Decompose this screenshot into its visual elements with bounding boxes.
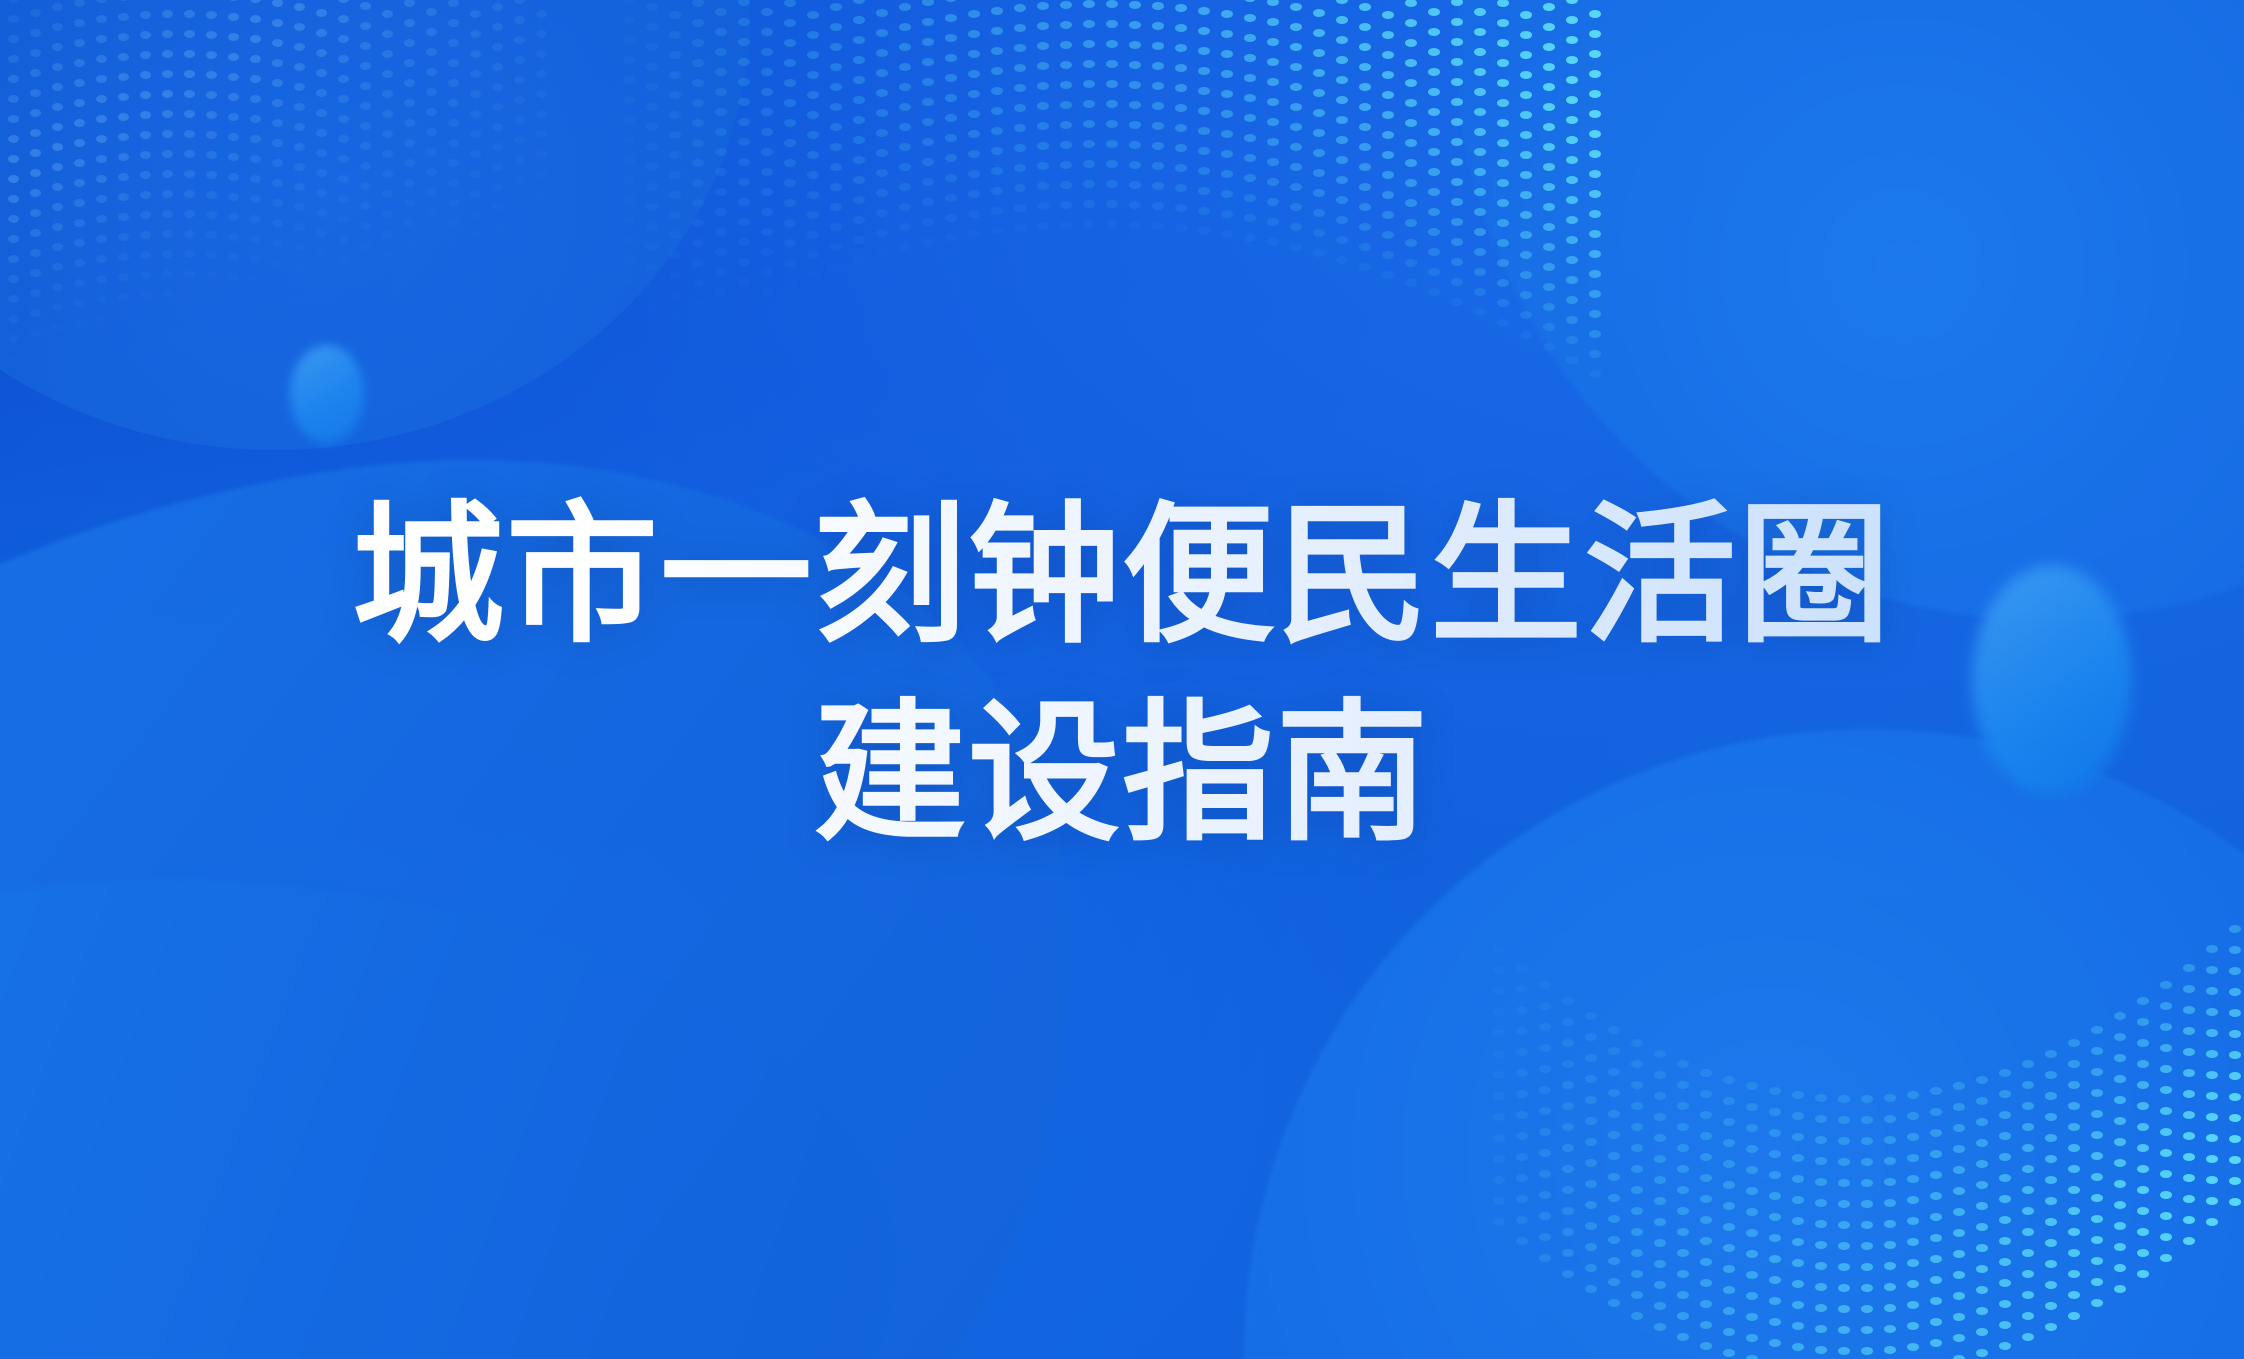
poster-title: 城市一刻钟便民生活圈 建设指南 (0, 478, 2244, 873)
poster-title-line-2: 建设指南 (0, 676, 2244, 874)
poster-canvas: 城市一刻钟便民生活圈 建设指南 (0, 0, 2244, 1359)
poster-title-line-1: 城市一刻钟便民生活圈 (0, 478, 2244, 676)
